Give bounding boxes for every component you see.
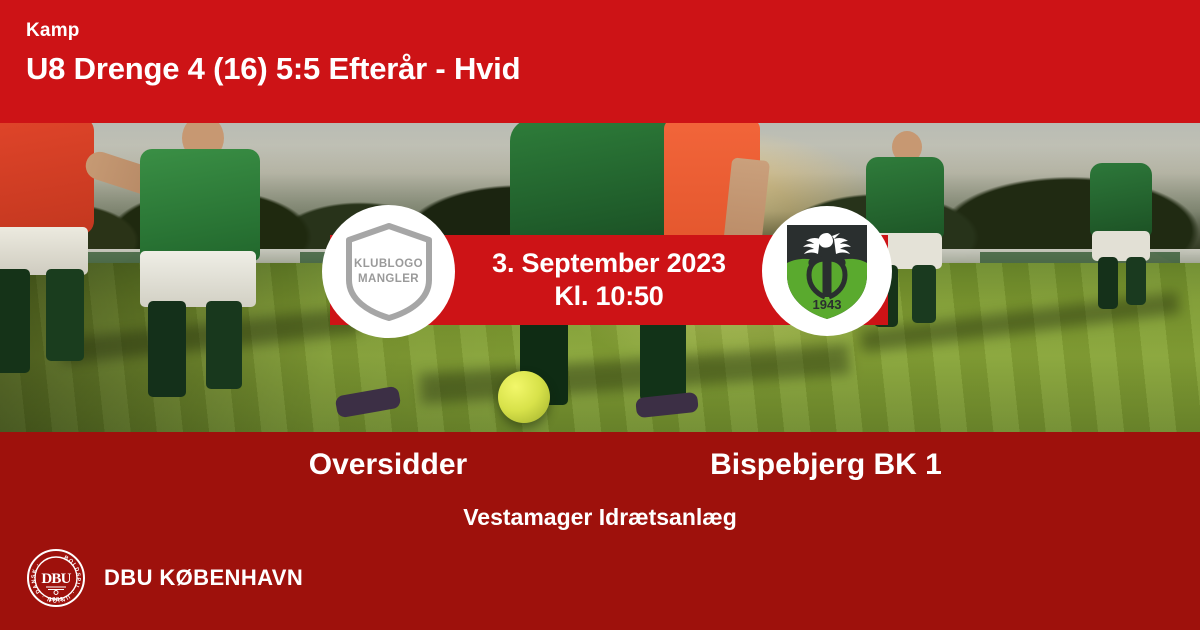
page-title: U8 Drenge 4 (16) 5:5 Efterår - Hvid [26, 49, 1174, 89]
placeholder-line-1: KLUBLOGO [354, 257, 423, 272]
photo-football [498, 371, 550, 423]
svg-text:1889: 1889 [49, 597, 64, 603]
dbu-logo-icon: BOLDSPIL · UNION · DANSK · DBU 1889 [26, 548, 86, 608]
match-date: 3. September 2023 [492, 247, 726, 280]
home-club-badge: KLUBLOGO MANGLER [322, 205, 455, 338]
bispebjerg-crest-icon: 1943 [779, 219, 875, 323]
placeholder-line-2: MANGLER [354, 272, 423, 287]
away-club-badge: 1943 [762, 206, 892, 336]
team-names-row: Oversidder Bispebjerg BK 1 [0, 440, 1200, 490]
svg-text:DBU: DBU [41, 571, 71, 587]
footer: BOLDSPIL · UNION · DANSK · DBU 1889 DBU … [26, 548, 303, 608]
venue-name: Vestamager Idrætsanlæg [0, 503, 1200, 531]
poster-header: Kamp U8 Drenge 4 (16) 5:5 Efterår - Hvid [0, 0, 1200, 123]
match-time: Kl. 10:50 [554, 280, 663, 313]
crest-founded-year: 1943 [813, 297, 842, 312]
match-poster: Kamp U8 Drenge 4 (16) 5:5 Efterår - Hvid [0, 0, 1200, 630]
home-team-name: Oversidder [238, 447, 538, 483]
klublogo-mangler-shield: KLUBLOGO MANGLER [343, 222, 435, 322]
away-team-name: Bispebjerg BK 1 [676, 447, 976, 483]
organisation-name: DBU KØBENHAVN [104, 565, 303, 591]
header-kicker: Kamp [26, 20, 1174, 42]
